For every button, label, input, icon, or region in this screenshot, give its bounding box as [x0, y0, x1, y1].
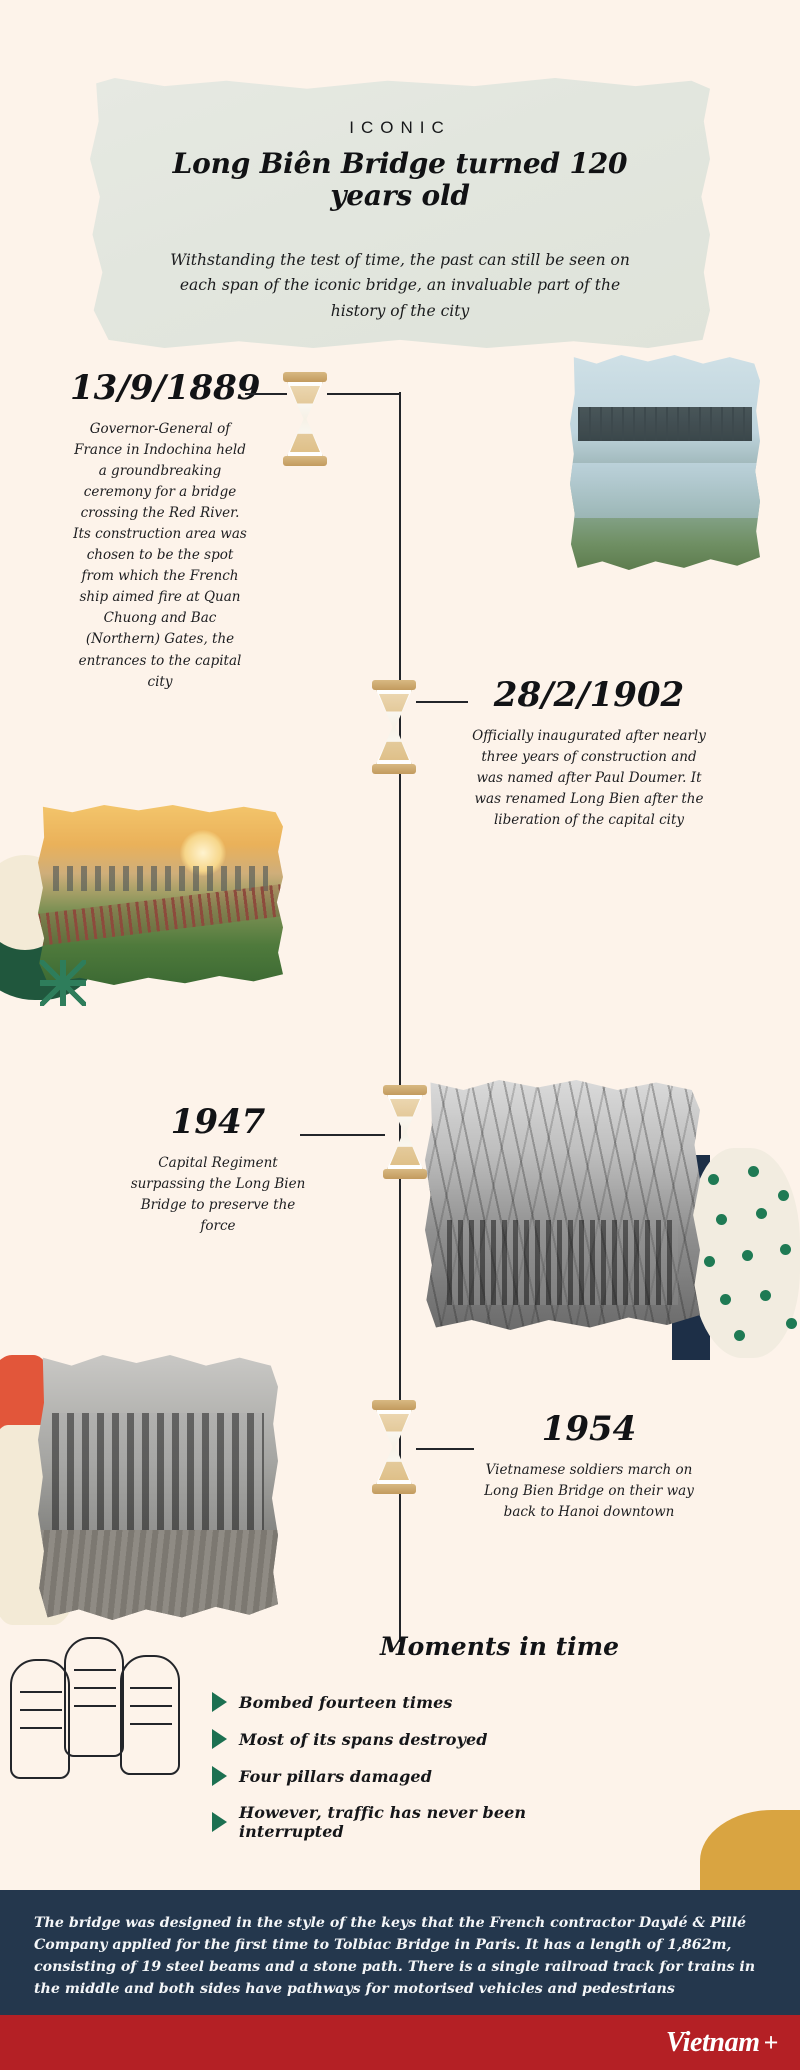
moments-bullet-list: Bombed fourteen times Most of its spans …	[212, 1692, 632, 1858]
connector-line-1947	[300, 1134, 385, 1136]
timeline-date-1889: 13/9/1889	[70, 371, 250, 405]
hourglass-cap-bottom	[372, 1484, 416, 1494]
dot	[708, 1174, 719, 1185]
list-item: Bombed fourteen times	[212, 1692, 632, 1712]
hourglass-cap-top	[372, 1400, 416, 1410]
decor-blob-gold-bottomright	[700, 1810, 800, 1895]
hourglass-cap-top	[283, 372, 327, 382]
list-item-label: However, traffic has never been interrup…	[239, 1803, 632, 1841]
page-subtitle: Withstanding the test of time, the past …	[165, 248, 635, 323]
raised-fists-illustration	[8, 1625, 208, 1805]
bridge-deck-shape	[38, 1530, 278, 1620]
timeline-entry-1947: 1947 Capital Regiment surpassing the Lon…	[128, 1105, 308, 1237]
dot	[760, 1290, 771, 1301]
timeline-body-1954: Vietnamese soldiers march on Long Bien B…	[474, 1460, 704, 1523]
eyebrow-label: ICONIC	[136, 118, 664, 138]
crowd-shape	[447, 1220, 678, 1305]
list-item-label: Most of its spans destroyed	[239, 1730, 488, 1749]
timeline-date-1947: 1947	[128, 1105, 308, 1139]
hourglass-cap-bottom	[283, 456, 327, 466]
connector-line-1889-right	[327, 393, 400, 395]
hourglass-cap-bottom	[383, 1169, 427, 1179]
hourglass-cap-top	[372, 680, 416, 690]
list-item-label: Bombed fourteen times	[239, 1693, 453, 1712]
triangle-bullet-icon	[212, 1692, 227, 1712]
dot	[720, 1294, 731, 1305]
timeline-body-1947: Capital Regiment surpassing the Long Bie…	[128, 1153, 308, 1237]
dot	[780, 1244, 791, 1255]
hourglass-icon-1889	[283, 372, 327, 466]
hourglass-cap-bottom	[372, 764, 416, 774]
decor-dots-card	[690, 1148, 800, 1358]
dot	[748, 1166, 759, 1177]
dot	[742, 1250, 753, 1261]
list-item: However, traffic has never been interrup…	[212, 1803, 632, 1841]
fist-icon-3	[120, 1655, 180, 1775]
hourglass-icon-1947	[383, 1085, 427, 1179]
hourglass-cap-top	[383, 1085, 427, 1095]
list-item: Most of its spans destroyed	[212, 1729, 632, 1749]
page-title: Long Biên Bridge turned 120 years old	[136, 148, 664, 212]
timeline-entry-1889: 13/9/1889 Governor-General of France in …	[70, 371, 250, 693]
photo-hanoi-sunset	[38, 805, 283, 985]
vietnamplus-logo: Vietnam +	[666, 2027, 778, 2059]
dot	[716, 1214, 727, 1225]
river-water-shape	[570, 463, 760, 519]
list-item-label: Four pillars damaged	[239, 1767, 432, 1786]
triangle-bullet-icon	[212, 1766, 227, 1786]
hourglass-sand	[379, 1414, 409, 1480]
brand-name: Vietnam	[666, 2027, 760, 2059]
hourglass-sand	[290, 386, 320, 452]
dot	[734, 1330, 745, 1341]
hourglass-icon-1902	[372, 680, 416, 774]
moments-section-title: Moments in time	[380, 1632, 619, 1661]
timeline-date-1902: 28/2/1902	[468, 678, 710, 712]
hourglass-sand	[379, 694, 409, 760]
fist-icon-1	[10, 1659, 70, 1779]
timeline-body-1902: Officially inaugurated after nearly thre…	[468, 726, 710, 831]
photo-1954-soldiers-march	[38, 1355, 278, 1620]
dot	[756, 1208, 767, 1219]
timeline-date-1954: 1954	[474, 1412, 704, 1446]
timeline-entry-1902: 28/2/1902 Officially inaugurated after n…	[468, 678, 710, 831]
hourglass-icon-1954	[372, 1400, 416, 1494]
brand-bar: Vietnam +	[0, 2015, 800, 2070]
footer-text: The bridge was designed in the style of …	[34, 1912, 766, 2000]
bridge-truss-shape	[578, 407, 753, 441]
soldier-figures-shape	[52, 1413, 263, 1535]
timeline-entry-1954: 1954 Vietnamese soldiers march on Long B…	[474, 1412, 704, 1523]
photo-long-bien-bridge-modern	[570, 355, 760, 570]
list-item: Four pillars damaged	[212, 1766, 632, 1786]
hourglass-sand	[390, 1099, 420, 1165]
decor-sunburst-icon	[40, 960, 86, 1006]
dot	[786, 1318, 797, 1329]
timeline-body-1889: Governor-General of France in Indochina …	[70, 419, 250, 693]
bridge-span-shape	[38, 884, 283, 946]
dot	[778, 1190, 789, 1201]
dot	[704, 1256, 715, 1267]
city-skyline-shape	[53, 866, 269, 891]
triangle-bullet-icon	[212, 1729, 227, 1749]
plus-icon: +	[764, 2028, 778, 2058]
connector-line-1954	[416, 1448, 474, 1450]
fist-icon-2	[64, 1637, 124, 1757]
photo-1947-bridge-crowd	[425, 1080, 700, 1330]
footer-note: The bridge was designed in the style of …	[0, 1890, 800, 2015]
infographic-page: ICONIC Long Biên Bridge turned 120 years…	[0, 0, 800, 2070]
connector-line-1889	[245, 393, 287, 395]
triangle-bullet-icon	[212, 1812, 227, 1832]
header-card: ICONIC Long Biên Bridge turned 120 years…	[90, 78, 710, 348]
connector-line-1902	[416, 701, 468, 703]
